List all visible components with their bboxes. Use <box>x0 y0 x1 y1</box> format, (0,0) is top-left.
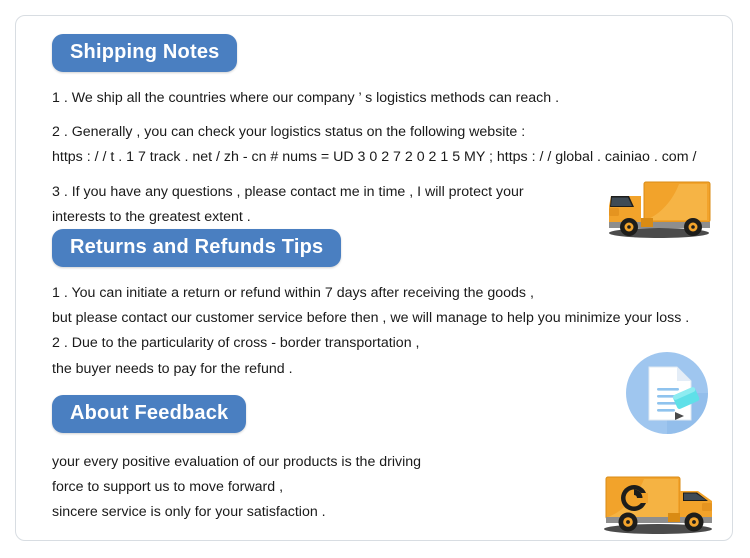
feedback-line-2: force to support us to move forward , <box>52 480 421 494</box>
returns-line-1: 1 . You can initiate a return or refund … <box>52 286 689 300</box>
shipping-tracking-urls: https : / / t . 1 7 track . net / zh - c… <box>52 150 696 164</box>
shipping-notes-body: 1 . We ship all the countries where our … <box>52 91 696 224</box>
returns-line-2: but please contact our customer service … <box>52 311 689 325</box>
about-feedback-body: your every positive evaluation of our pr… <box>52 455 421 520</box>
section-heading-shipping-notes: Shipping Notes <box>52 34 237 72</box>
feedback-line-3: sincere service is only for your satisfa… <box>52 505 421 519</box>
shipping-line-3: 3 . If you have any questions , please c… <box>52 185 696 199</box>
section-returns-refunds: Returns and Refunds Tips 1 . You can ini… <box>52 229 689 387</box>
returns-line-3: 2 . Due to the particularity of cross - … <box>52 336 689 350</box>
section-heading-about-feedback: About Feedback <box>52 395 246 433</box>
returns-refunds-body: 1 . You can initiate a return or refund … <box>52 286 689 376</box>
section-heading-returns-refunds: Returns and Refunds Tips <box>52 229 341 267</box>
notice-card: Shipping Notes 1 . We ship all the count… <box>15 15 733 541</box>
feedback-line-1: your every positive evaluation of our pr… <box>52 455 421 469</box>
shipping-line-2: 2 . Generally , you can check your logis… <box>52 125 696 139</box>
section-shipping-notes: Shipping Notes 1 . We ship all the count… <box>52 34 696 224</box>
shipping-line-4: interests to the greatest extent . <box>52 210 696 224</box>
returns-line-4: the buyer needs to pay for the refund . <box>52 362 689 376</box>
section-about-feedback: About Feedback your every positive evalu… <box>52 395 421 531</box>
delivery-truck-left-icon <box>601 178 717 245</box>
document-edit-badge-icon <box>619 350 719 441</box>
shipping-line-1: 1 . We ship all the countries where our … <box>52 91 696 105</box>
delivery-truck-right-icon <box>594 471 722 542</box>
